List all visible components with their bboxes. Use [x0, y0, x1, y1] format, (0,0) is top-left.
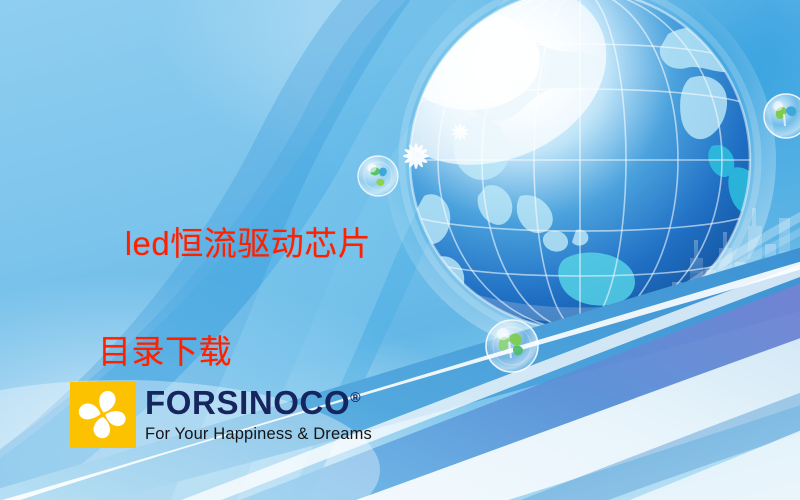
- poster-canvas: led恒流驱动芯片 目录下载 FORSINOCO® For Your Happi…: [0, 0, 800, 500]
- brand-logo: FORSINOCO® For Your Happiness & Dreams: [70, 382, 372, 448]
- registered-trademark-icon: ®: [350, 389, 360, 405]
- bubble-sprout-icon: [764, 94, 800, 138]
- four-petal-pinwheel-icon: [70, 382, 136, 448]
- brand-name: FORSINOCO: [145, 384, 350, 421]
- headline-line-2: 目录下载: [86, 325, 506, 379]
- brand-text: FORSINOCO® For Your Happiness & Dreams: [145, 382, 372, 443]
- headline-line-1: led恒流驱动芯片: [125, 225, 372, 262]
- brand-wordmark: FORSINOCO®: [145, 386, 372, 419]
- brand-tagline: For Your Happiness & Dreams: [145, 426, 372, 443]
